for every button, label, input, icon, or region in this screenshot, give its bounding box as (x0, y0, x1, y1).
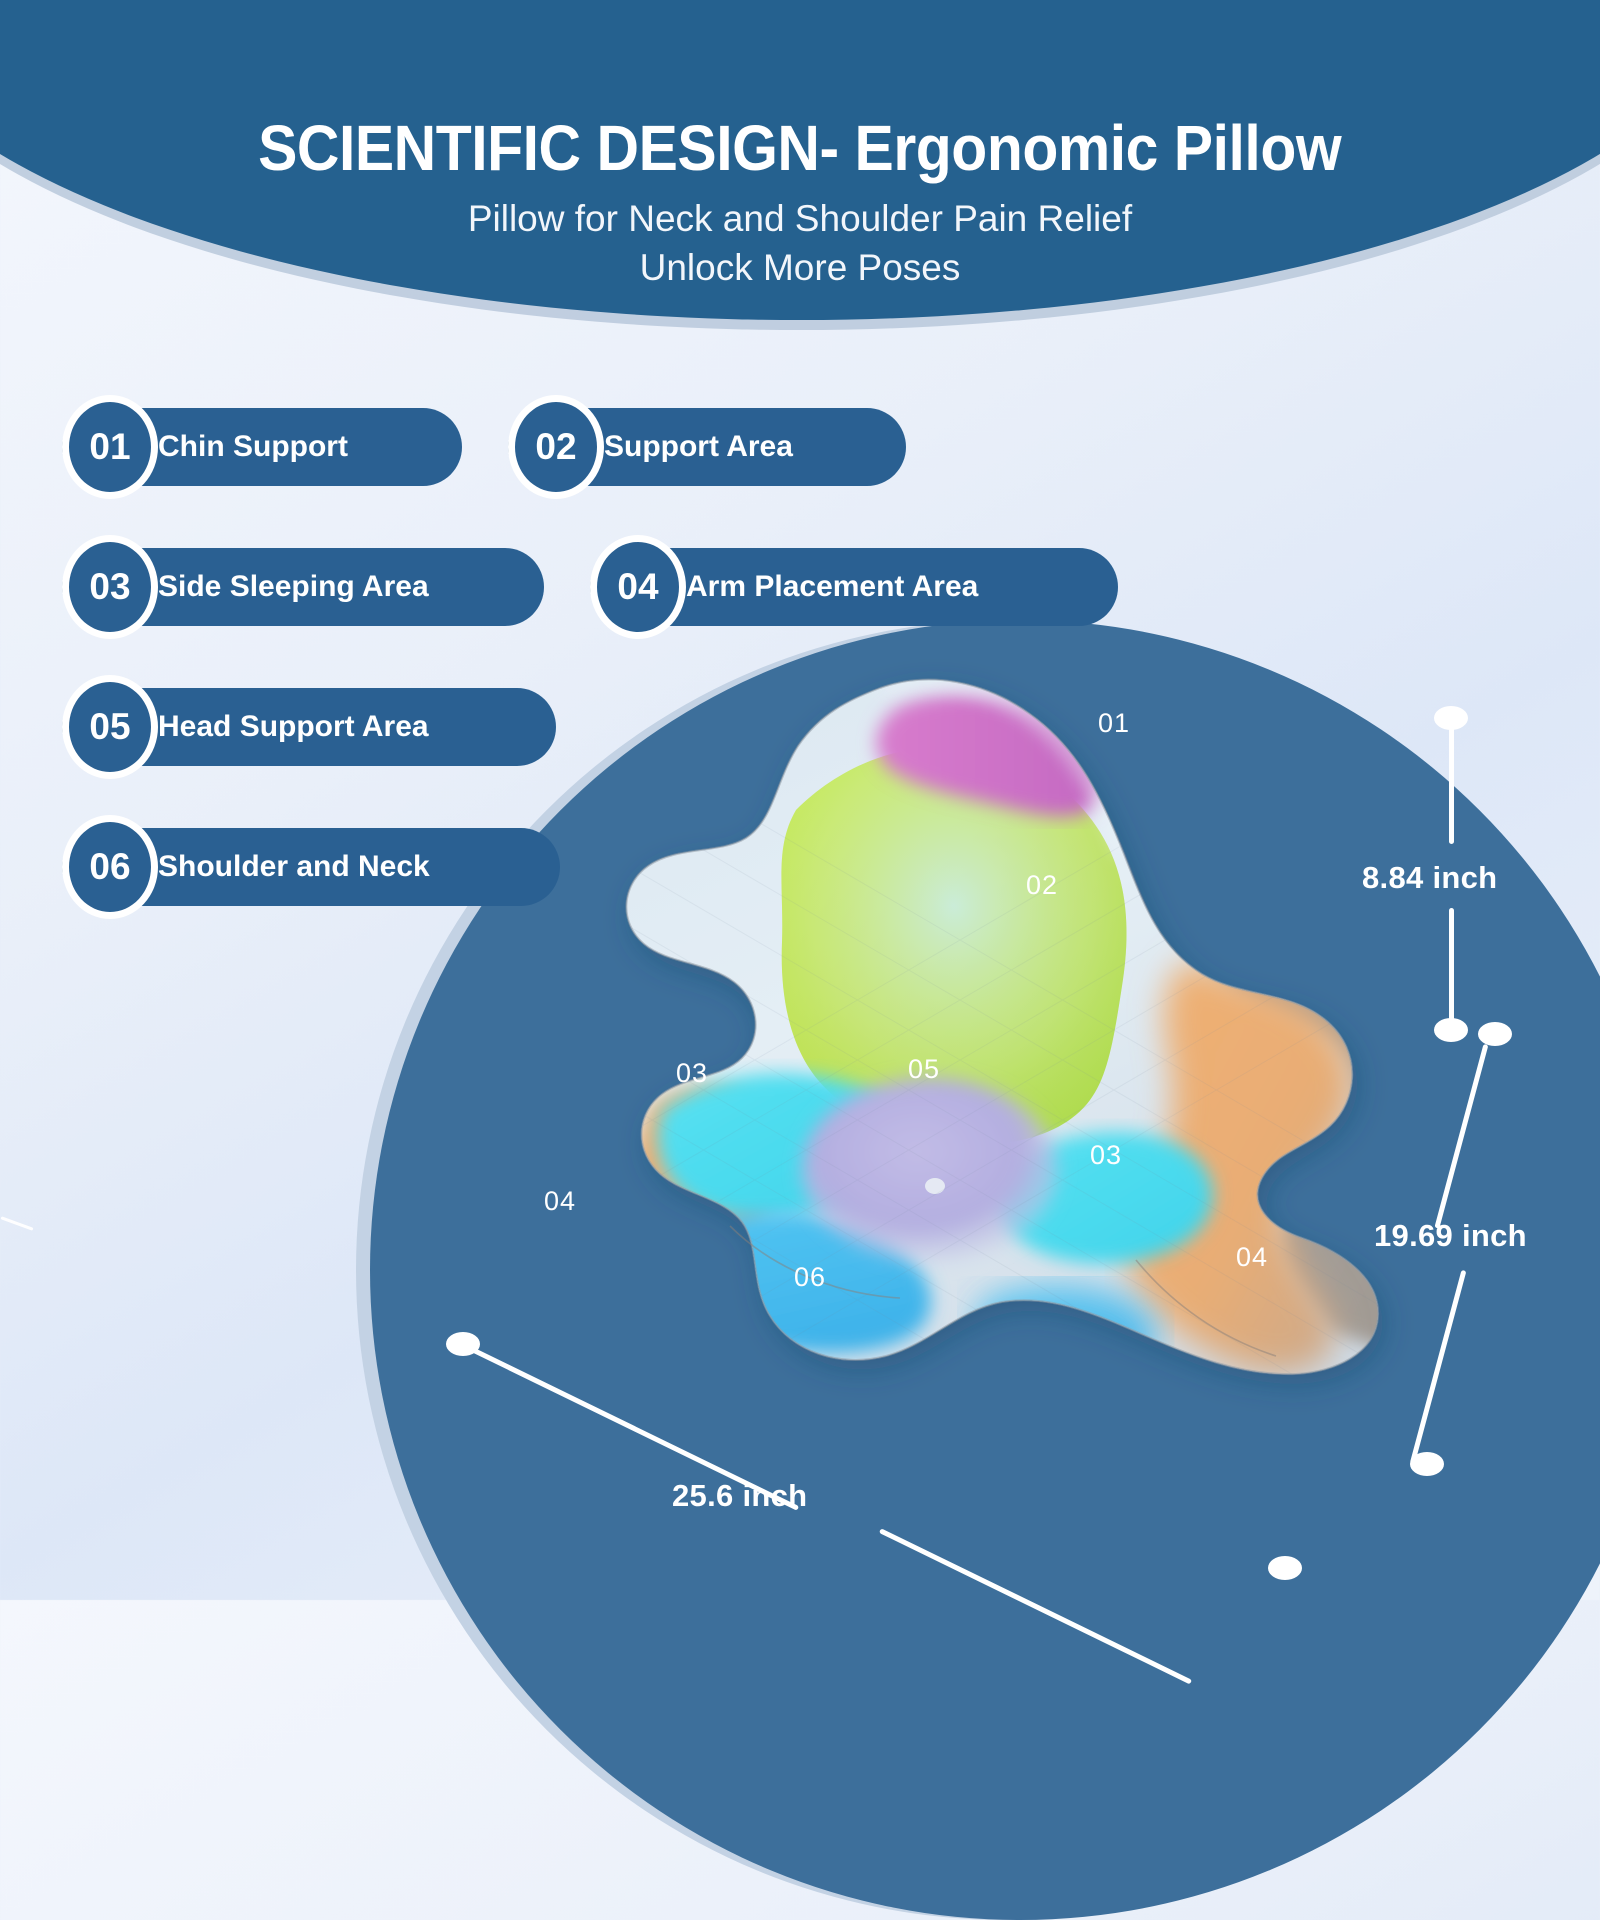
legend-number-06: 06 (62, 815, 158, 919)
legend-number-03: 03 (62, 535, 158, 639)
legend-label-04: Arm Placement Area (686, 570, 978, 604)
legend-number-02: 02 (508, 395, 604, 499)
pillow-svg (430, 630, 1490, 1460)
depth-value: 19.69 inch (1374, 1218, 1527, 1254)
legend-number-05: 05 (62, 675, 158, 779)
legend-label-06: Shoulder and Neck (158, 850, 430, 884)
height-value: 8.84 inch (1362, 860, 1497, 896)
height-line-upper (1449, 726, 1454, 844)
pillow-surface (430, 630, 1490, 1460)
legend-label-03: Side Sleeping Area (158, 570, 429, 604)
legend-label-02: Support Area (604, 430, 793, 464)
legend-item-02[interactable]: Support Area 02 (508, 408, 906, 486)
infographic-canvas: SCIENTIFIC DESIGN- Ergonomic Pillow Pill… (0, 0, 1600, 1600)
width-value: 25.6 inch (672, 1478, 807, 1514)
zone-05-center-dimple (925, 1178, 945, 1194)
depth-dot-top (1478, 1022, 1512, 1046)
depth-dot-bottom (1410, 1452, 1444, 1476)
legend-item-03[interactable]: Side Sleeping Area 03 (62, 548, 544, 626)
product-pillow-image: 01 02 03 03 04 04 05 06 (430, 630, 1490, 1460)
legend-label-01: Chin Support (158, 430, 348, 464)
height-line-lower (1449, 908, 1454, 1026)
legend-number-04: 04 (590, 535, 686, 639)
legend-label-05: Head Support Area (158, 710, 429, 744)
height-dot-bottom (1434, 1018, 1468, 1042)
width-dot-right (1268, 1556, 1302, 1580)
legend-item-04[interactable]: Arm Placement Area 04 (590, 548, 1118, 626)
legend-number-01: 01 (62, 395, 158, 499)
legend-item-01[interactable]: Chin Support 01 (62, 408, 462, 486)
